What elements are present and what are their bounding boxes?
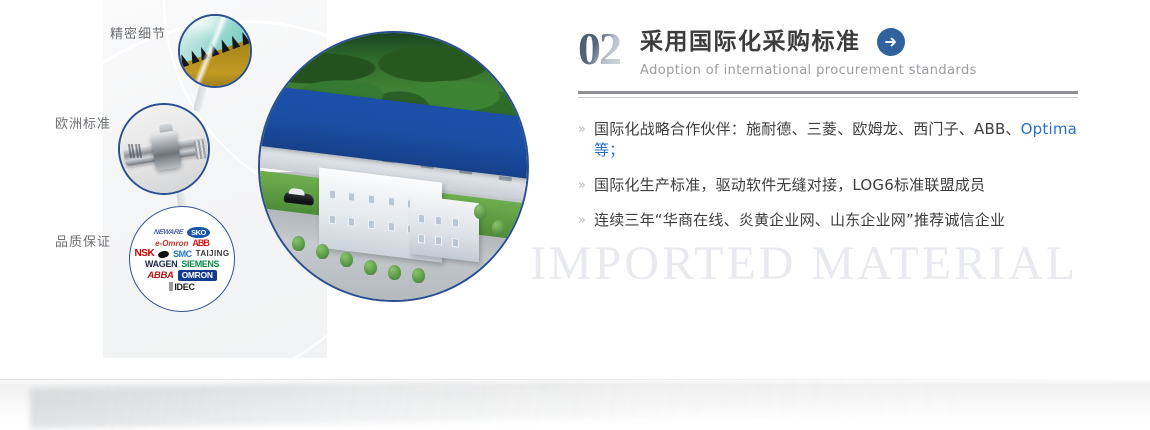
- logo-idec: IDEC: [169, 282, 194, 292]
- logo-taijing: TAIJING: [196, 250, 230, 258]
- tree: [388, 265, 401, 280]
- logo-row: WAGEN SIEMENS: [134, 260, 230, 269]
- tree: [474, 204, 487, 219]
- logo-row: NSK SMC TAIJING: [134, 249, 230, 259]
- list-item-text: 连续三年“华商在线、炎黄企业网、山东企业网”推荐诚信企业: [594, 210, 1005, 231]
- label-quality: 品质保证: [55, 231, 111, 250]
- gloss-highlight: [178, 14, 232, 40]
- list-item: » 连续三年“华商在线、炎黄企业网、山东企业网”推荐诚信企业: [578, 210, 1098, 231]
- tree: [292, 236, 305, 251]
- tree: [340, 252, 353, 267]
- arrow-right-icon[interactable]: [877, 28, 905, 56]
- logo-abb: ABB: [192, 239, 209, 248]
- logo-row: IDEC: [134, 282, 230, 292]
- smc-dot-icon: [158, 249, 170, 258]
- section-title-cn-text: 采用国际化采购标准: [640, 29, 861, 55]
- bullet-chevron-icon: »: [578, 119, 594, 140]
- logo-row: ABBA OMRON: [134, 270, 230, 281]
- list-item-text: 国际化战略合作伙伴：施耐德、三菱、欧姆龙、西门子、ABB、Optima等；: [594, 119, 1098, 161]
- section-header: 02 采用国际化采购标准 Adoption of international p…: [578, 26, 977, 78]
- logo-omron: OMRON: [178, 270, 217, 281]
- tree: [316, 244, 329, 259]
- logo-row: e-Omron ABB: [134, 239, 230, 248]
- logo-siemens: SIEMENS: [181, 260, 219, 269]
- tree: [412, 268, 425, 283]
- logo-sko: SKO: [187, 227, 210, 239]
- section-title-cn: 采用国际化采购标准: [640, 28, 977, 56]
- content-column: 02 采用国际化采购标准 Adoption of international p…: [578, 0, 1098, 430]
- brand-logos: NEWARE SKO e-Omron ABB NSK SMC TAIJING W…: [129, 206, 235, 312]
- watermark-text: IMPORTED MATERIAL: [530, 236, 1078, 291]
- logo-neware: NEWARE: [154, 229, 184, 236]
- factory-building-photo: [258, 31, 529, 302]
- section-title-en: Adoption of international procurement st…: [640, 63, 977, 78]
- list-item-text: 国际化生产标准，驱动软件无缝对接，LOG6标准联盟成员: [594, 175, 985, 196]
- tree: [492, 220, 505, 235]
- label-euro: 欧洲标准: [55, 113, 111, 132]
- ball-screw-photo: [118, 103, 210, 195]
- label-precision: 精密细节: [110, 23, 166, 42]
- bullet-chevron-icon: »: [578, 210, 594, 231]
- logo-smc: SMC: [173, 250, 192, 259]
- list-item: » 国际化战略合作伙伴：施耐德、三菱、欧姆龙、西门子、ABB、Optima等；: [578, 119, 1098, 161]
- logo-wagen: WAGEN: [145, 260, 178, 269]
- gear-detail-photo: [178, 14, 252, 88]
- logo-abba: ABBA: [147, 271, 173, 281]
- logo-e-omron: e-Omron: [155, 240, 188, 248]
- logo-nsk: NSK: [135, 249, 155, 259]
- tree: [364, 260, 377, 275]
- section-number: 02: [578, 26, 624, 72]
- logo-row: NEWARE SKO: [134, 227, 230, 239]
- promo-banner: NEWARE SKO e-Omron ABB NSK SMC TAIJING W…: [0, 0, 1150, 430]
- feature-list: » 国际化战略合作伙伴：施耐德、三菱、欧姆龙、西门子、ABB、Optima等； …: [578, 119, 1098, 245]
- office-wing: [410, 194, 479, 261]
- bullet-chevron-icon: »: [578, 175, 594, 196]
- list-item: » 国际化生产标准，驱动软件无缝对接，LOG6标准联盟成员: [578, 175, 1098, 196]
- header-divider: [578, 91, 1078, 98]
